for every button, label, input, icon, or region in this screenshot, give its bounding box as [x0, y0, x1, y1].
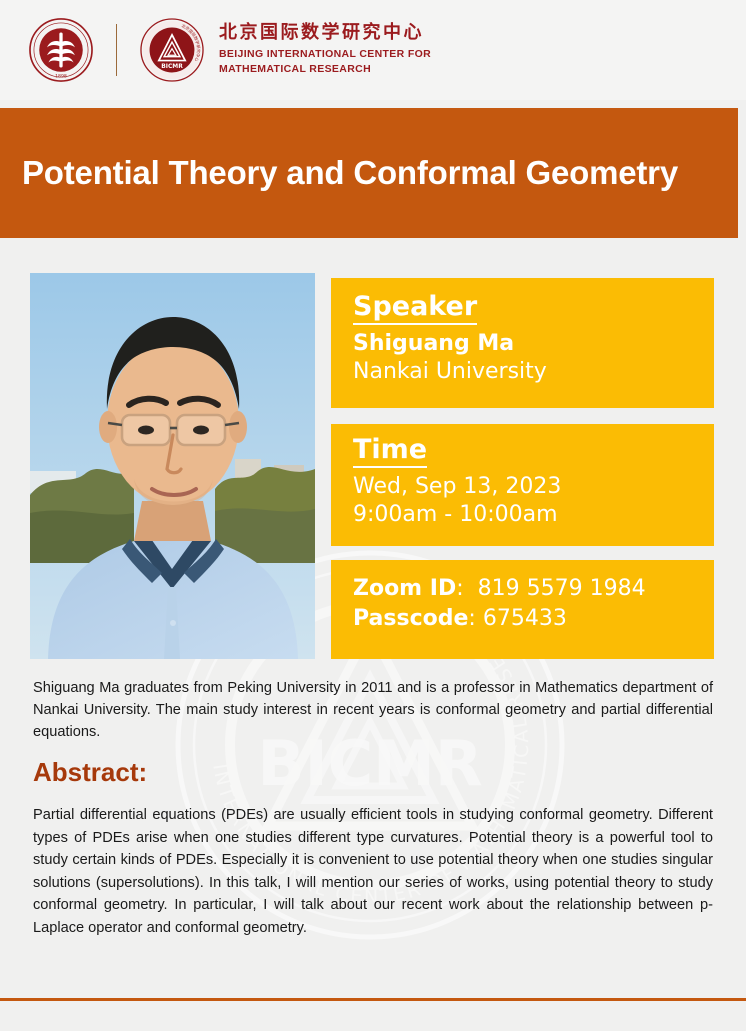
passcode-row: Passcode: 675433	[353, 604, 714, 634]
poster-header: 1898 BICMR 北京国际数学研究中心 北京国际数学研究中心 BEIJING	[0, 0, 746, 100]
passcode-value: 675433	[483, 606, 567, 631]
time-hours: 9:00am - 10:00am	[353, 501, 714, 529]
bicmr-logo-icon: BICMR 北京国际数学研究中心	[139, 17, 205, 83]
time-heading: Time	[353, 435, 427, 468]
speaker-name: Shiguang Ma	[353, 330, 714, 358]
time-date: Wed, Sep 13, 2023	[353, 473, 714, 501]
speaker-photo	[30, 273, 315, 659]
title-banner: Potential Theory and Conformal Geometry	[0, 108, 738, 238]
passcode-label: Passcode	[353, 606, 468, 631]
zoom-id-value: 819 5579 1984	[478, 576, 646, 601]
org-name-cn: 北京国际数学研究中心	[219, 24, 431, 42]
svg-text:1898: 1898	[55, 74, 67, 80]
speaker-info-box: Speaker Shiguang Ma Nankai University	[331, 278, 714, 408]
svg-text:BICMR: BICMR	[161, 63, 183, 70]
speaker-bio: Shiguang Ma graduates from Peking Univer…	[33, 678, 713, 744]
passcode-separator: :	[468, 606, 475, 631]
seminar-poster: 1898 BICMR 北京国际数学研究中心 北京国际数学研究中心 BEIJING	[0, 0, 746, 1031]
page-title: Potential Theory and Conformal Geometry	[0, 154, 686, 192]
speaker-heading: Speaker	[353, 292, 477, 325]
org-name-en-line1: BEIJING INTERNATIONAL CENTER FOR	[219, 47, 431, 62]
org-name-en-line2: MATHEMATICAL RESEARCH	[219, 62, 431, 77]
footer-divider	[0, 998, 746, 1001]
time-info-box: Time Wed, Sep 13, 2023 9:00am - 10:00am	[331, 424, 714, 546]
peking-university-logo-icon: 1898	[28, 17, 94, 83]
abstract-heading: Abstract:	[33, 757, 147, 788]
zoom-id-separator: :	[456, 576, 463, 601]
logo-divider	[116, 24, 117, 76]
zoom-id-row: Zoom ID: 819 5579 1984	[353, 574, 714, 604]
speaker-affiliation: Nankai University	[353, 358, 714, 386]
zoom-id-label: Zoom ID	[353, 576, 456, 601]
organization-names: 北京国际数学研究中心 BEIJING INTERNATIONAL CENTER …	[219, 24, 431, 77]
abstract-body: Partial differential equations (PDEs) ar…	[33, 804, 713, 940]
zoom-info-box: Zoom ID: 819 5579 1984 Passcode: 675433	[331, 560, 714, 659]
